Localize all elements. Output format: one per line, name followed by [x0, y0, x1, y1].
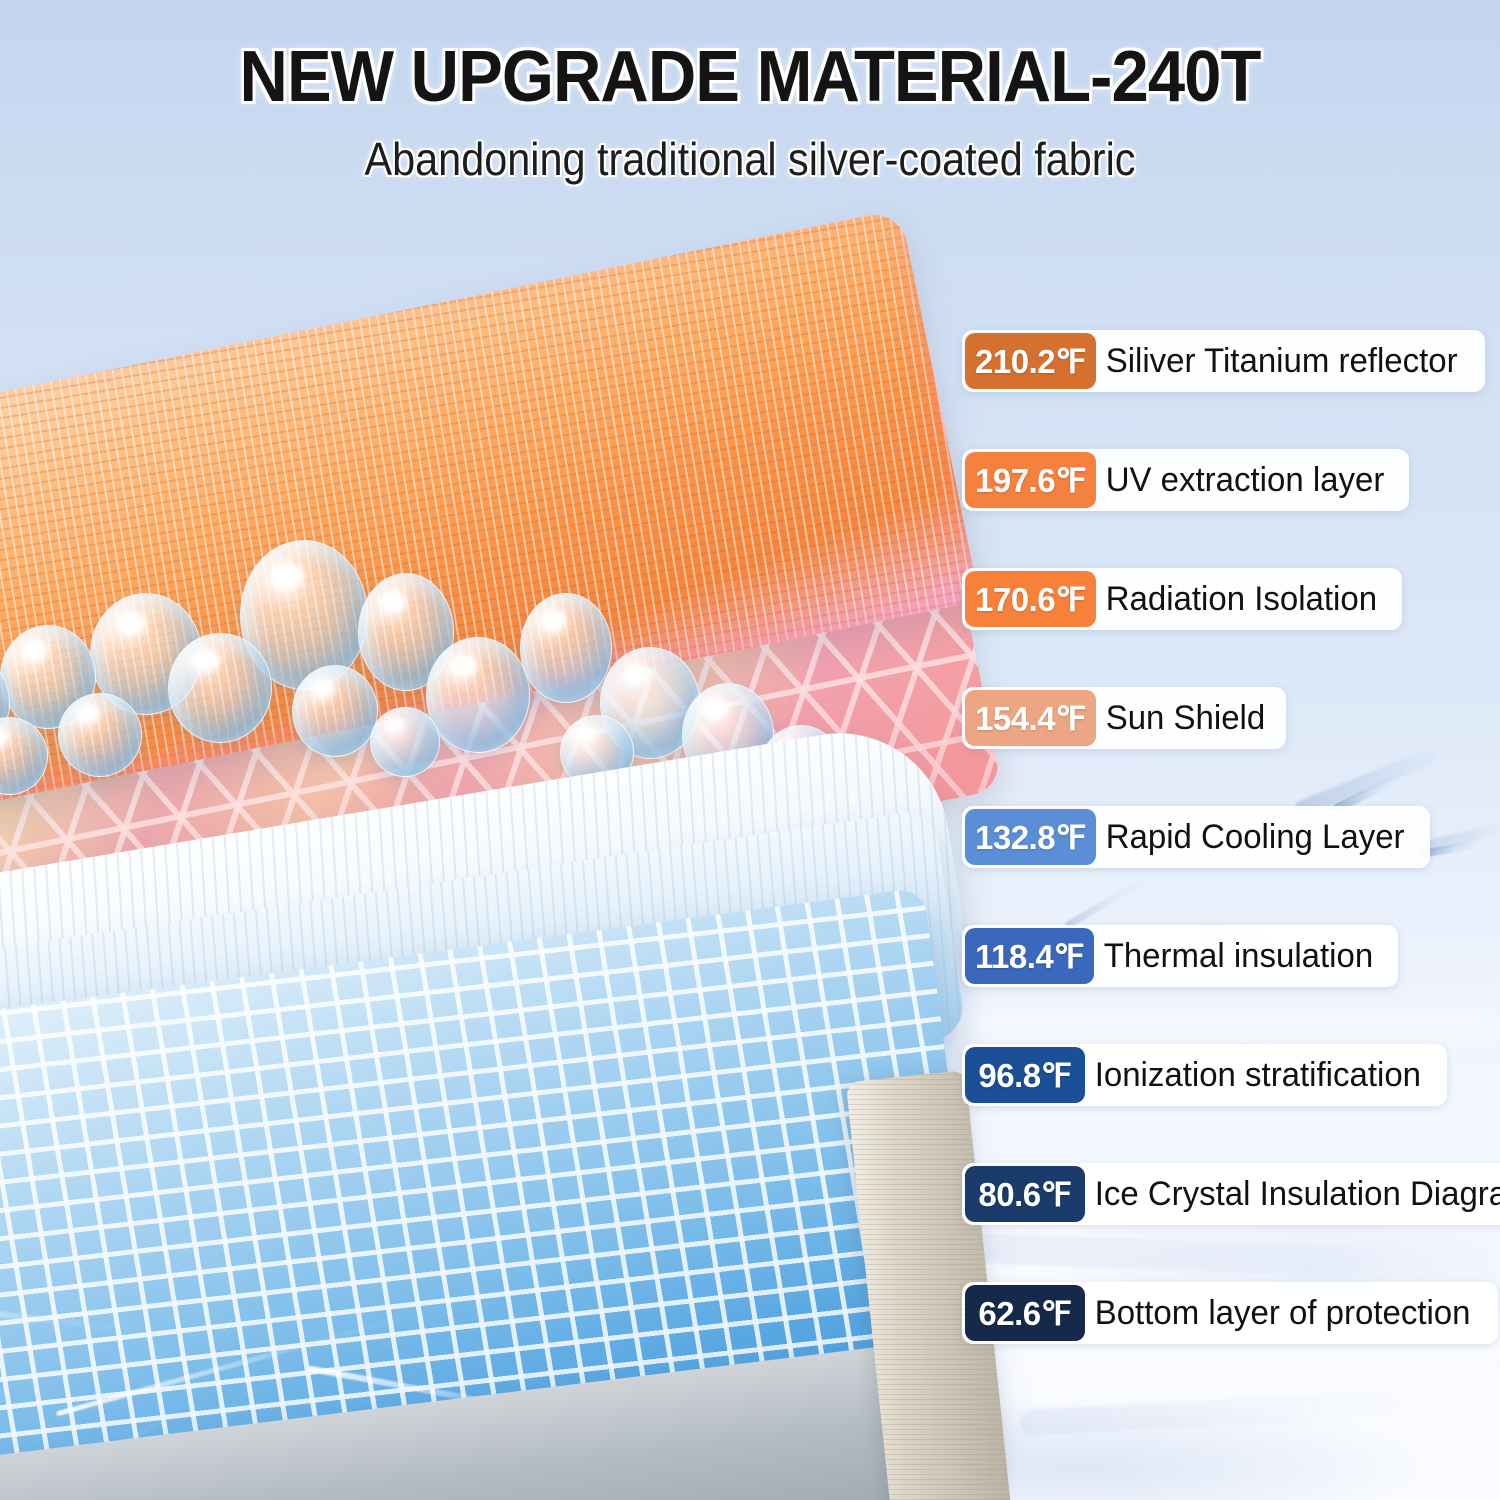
infographic-canvas: NEW UPGRADE MATERIAL-240T Abandoning tra…	[0, 0, 1500, 1500]
spec-pill: 197.6℉UV extraction layer	[962, 449, 1409, 511]
temperature-badge: 154.4℉	[965, 690, 1096, 746]
layer-name-label: Sun Shield	[1096, 687, 1265, 749]
spec-pill: 118.4℉Thermal insulation	[962, 925, 1398, 987]
spec-row[interactable]: 132.8℉Rapid Cooling Layer	[962, 806, 1430, 868]
spec-pill: 154.4℉Sun Shield	[962, 687, 1286, 749]
temperature-badge: 80.6℉	[965, 1166, 1085, 1222]
header-block: NEW UPGRADE MATERIAL-240T Abandoning tra…	[0, 40, 1500, 186]
temperature-badge: 118.4℉	[965, 928, 1094, 984]
bubble	[58, 693, 142, 777]
spec-row[interactable]: 80.6℉Ice Crystal Insulation Diagram	[962, 1163, 1500, 1225]
background-ice-shard-c	[1064, 878, 1145, 929]
temperature-badge: 62.6℉	[965, 1285, 1085, 1341]
temperature-badge: 132.8℉	[965, 809, 1096, 865]
spec-pill: 210.2℉Siliver Titanium reflector	[962, 330, 1485, 392]
temperature-badge: 210.2℉	[965, 333, 1096, 389]
bubble	[370, 707, 440, 777]
spec-row[interactable]: 96.8℉Ionization stratification	[962, 1044, 1447, 1106]
layer-name-label: Ice Crystal Insulation Diagram	[1085, 1163, 1500, 1225]
spec-pill: 96.8℉Ionization stratification	[962, 1044, 1447, 1106]
bubble	[292, 665, 378, 757]
spec-row[interactable]: 62.6℉Bottom layer of protection	[962, 1282, 1498, 1344]
spec-row[interactable]: 210.2℉Siliver Titanium reflector	[962, 330, 1485, 392]
bubble	[426, 637, 530, 753]
spec-row[interactable]: 118.4℉Thermal insulation	[962, 925, 1398, 987]
layer-name-label: Siliver Titanium reflector	[1096, 330, 1458, 392]
spec-pill: 170.6℉Radiation Isolation	[962, 568, 1402, 630]
page-title: NEW UPGRADE MATERIAL-240T	[53, 40, 1448, 116]
background-ice-ridge-d	[1020, 1390, 1401, 1436]
page-subtitle: Abandoning traditional silver-coated fab…	[75, 132, 1425, 186]
layer-name-label: Thermal insulation	[1094, 925, 1373, 987]
layer-name-label: UV extraction layer	[1096, 449, 1384, 511]
temperature-badge: 197.6℉	[965, 452, 1096, 508]
bubble	[520, 593, 612, 703]
background-ice-ridge-c	[960, 1233, 1381, 1278]
spec-row[interactable]: 154.4℉Sun Shield	[962, 687, 1286, 749]
layered-fabric-illustration	[0, 195, 1000, 1500]
layer-name-label: Radiation Isolation	[1096, 568, 1377, 630]
spec-pill: 132.8℉Rapid Cooling Layer	[962, 806, 1430, 868]
layer-name-label: Rapid Cooling Layer	[1096, 806, 1405, 868]
temperature-badge: 96.8℉	[965, 1047, 1085, 1103]
spec-pill: 62.6℉Bottom layer of protection	[962, 1282, 1498, 1344]
spec-pill: 80.6℉Ice Crystal Insulation Diagram	[962, 1163, 1500, 1225]
layer-name-label: Bottom layer of protection	[1085, 1282, 1470, 1344]
temperature-badge: 170.6℉	[965, 571, 1096, 627]
bubble	[168, 633, 272, 743]
spec-row[interactable]: 197.6℉UV extraction layer	[962, 449, 1409, 511]
spec-row[interactable]: 170.6℉Radiation Isolation	[962, 568, 1402, 630]
layer-name-label: Ionization stratification	[1085, 1044, 1421, 1106]
